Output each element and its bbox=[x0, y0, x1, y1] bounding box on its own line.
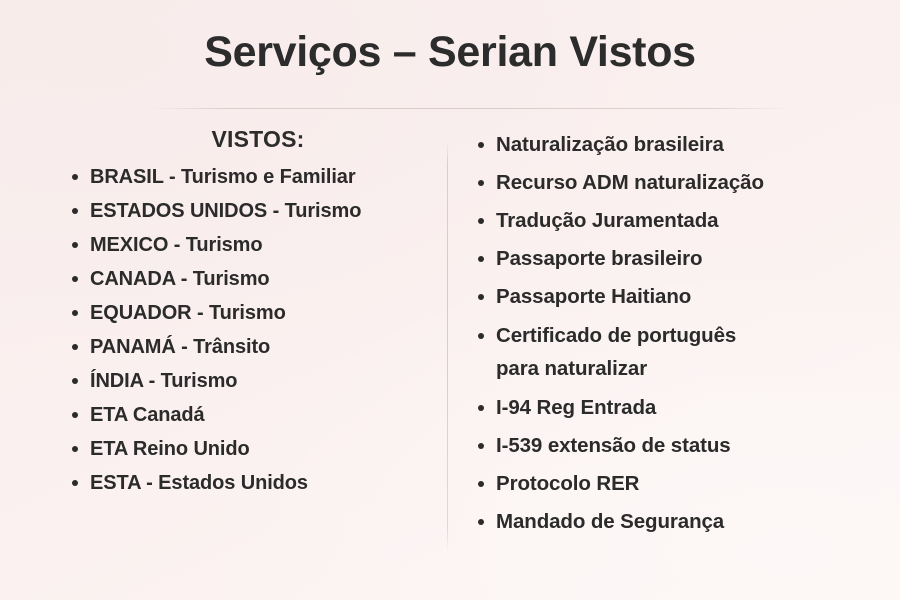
title-divider-rule bbox=[150, 108, 790, 109]
list-item: Naturalização brasileira bbox=[468, 126, 888, 164]
content-columns: VISTOS: BRASIL - Turismo e Familiar ESTA… bbox=[0, 126, 900, 566]
right-column: Naturalização brasileira Recurso ADM nat… bbox=[468, 126, 888, 541]
left-column-list: BRASIL - Turismo e Familiar ESTADOS UNID… bbox=[62, 160, 434, 500]
slide-canvas: Serviços – Serian Vistos VISTOS: BRASIL … bbox=[0, 0, 900, 600]
list-item-line-1: Certificado de português bbox=[496, 319, 888, 352]
list-item: ESTADOS UNIDOS - Turismo bbox=[62, 194, 434, 228]
list-item-line-2: para naturalizar bbox=[496, 352, 888, 385]
list-item: Passaporte brasileiro bbox=[468, 240, 888, 278]
list-item: Certificado de português para naturaliza… bbox=[468, 316, 888, 389]
list-item: Protocolo RER bbox=[468, 465, 888, 503]
list-item: Passaporte Haitiano bbox=[468, 278, 888, 316]
list-item: ETA Reino Unido bbox=[62, 432, 434, 466]
list-item: Mandado de Segurança bbox=[468, 503, 888, 541]
list-item: ESTA - Estados Unidos bbox=[62, 466, 434, 500]
title-block: Serviços – Serian Vistos bbox=[0, 28, 900, 76]
list-item: MEXICO - Turismo bbox=[62, 228, 434, 262]
list-item: Tradução Juramentada bbox=[468, 202, 888, 240]
list-item: EQUADOR - Turismo bbox=[62, 296, 434, 330]
list-item: I-94 Reg Entrada bbox=[468, 389, 888, 427]
list-item: ETA Canadá bbox=[62, 398, 434, 432]
page-title: Serviços – Serian Vistos bbox=[0, 28, 900, 76]
list-item: I-539 extensão de status bbox=[468, 427, 888, 465]
list-item: PANAMÁ - Trânsito bbox=[62, 330, 434, 364]
left-column-heading: VISTOS: bbox=[62, 126, 434, 153]
list-item: BRASIL - Turismo e Familiar bbox=[62, 160, 434, 194]
column-divider bbox=[447, 140, 448, 552]
right-column-list: Naturalização brasileira Recurso ADM nat… bbox=[468, 126, 888, 541]
left-column: VISTOS: BRASIL - Turismo e Familiar ESTA… bbox=[62, 126, 434, 500]
list-item: CANADA - Turismo bbox=[62, 262, 434, 296]
list-item: Recurso ADM naturalização bbox=[468, 164, 888, 202]
list-item: ÍNDIA - Turismo bbox=[62, 364, 434, 398]
